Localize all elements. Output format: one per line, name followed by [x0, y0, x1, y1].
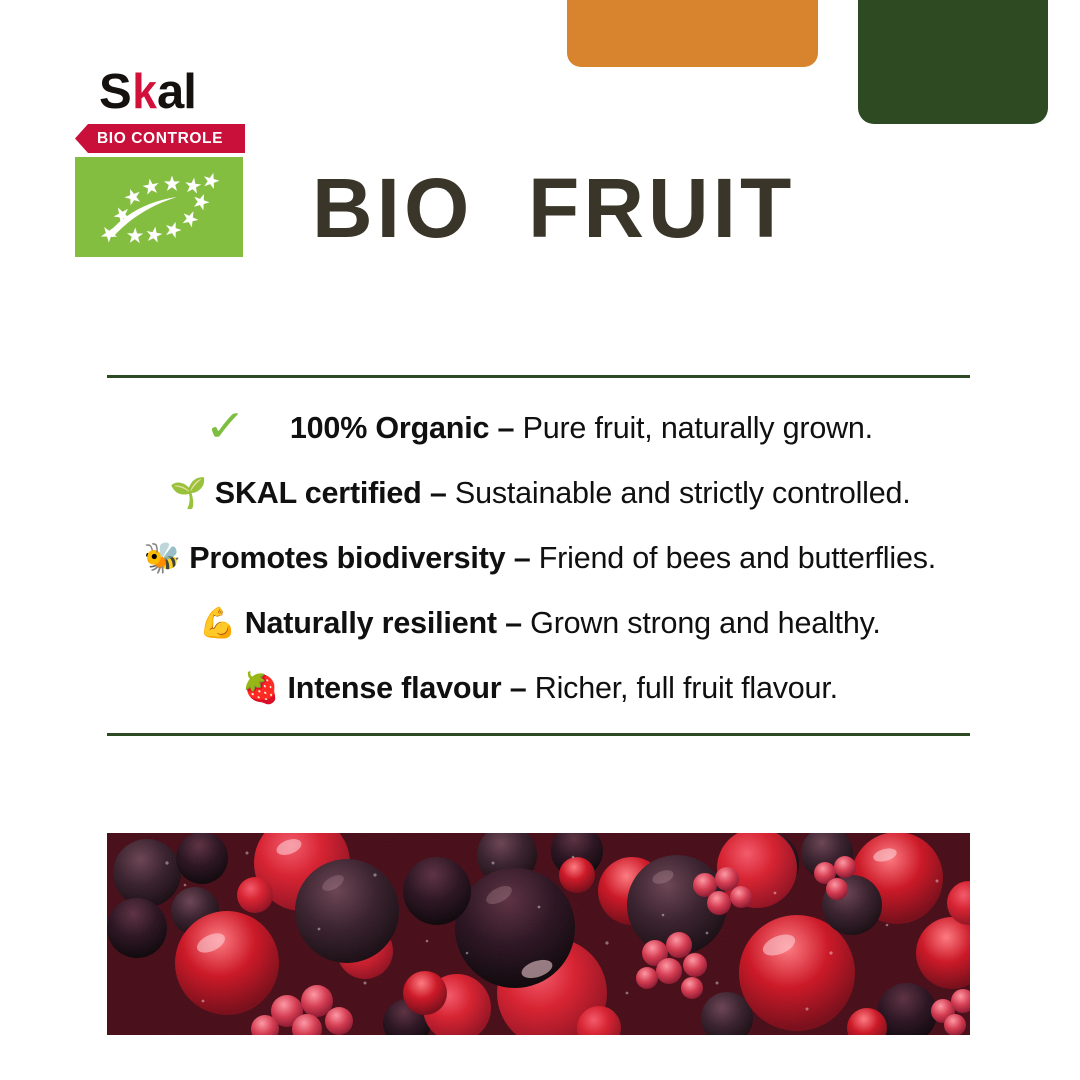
flexed-biceps-icon: 💪 [199, 609, 236, 639]
bio-controle-banner-text: BIO CONTROLE [75, 130, 223, 148]
skal-bio-controle-logo: Skal BIO CONTROLE [75, 66, 250, 257]
benefit-text: 100% Organic – Pure fruit, naturally gro… [290, 411, 873, 446]
green-accent-block [858, 0, 1048, 124]
list-item: 🐝 Promotes biodiversity – Friend of bees… [0, 526, 1080, 591]
divider-bottom [107, 733, 970, 736]
list-item: 💪 Naturally resilient – Grown strong and… [0, 591, 1080, 656]
benefit-title: SKAL certified [215, 476, 422, 510]
benefit-title: 100% Organic [290, 411, 489, 445]
benefit-text: Intense flavour – Richer, full fruit fla… [287, 671, 837, 706]
benefits-list: ✓ 100% Organic – Pure fruit, naturally g… [0, 396, 1080, 721]
eu-organic-euro-leaf-icon [75, 157, 243, 257]
skal-wordmark-s: S [99, 68, 131, 117]
skal-wordmark: Skal [75, 66, 250, 118]
benefit-description: Grown strong and healthy. [530, 606, 880, 640]
page-title: BIO FRUIT [312, 166, 795, 250]
list-item: ✓ 100% Organic – Pure fruit, naturally g… [0, 396, 1080, 461]
skal-wordmark-k-accent: k [132, 68, 156, 117]
bee-icon: 🐝 [144, 544, 181, 574]
list-item: 🍓 Intense flavour – Richer, full fruit f… [0, 656, 1080, 721]
benefit-description: Pure fruit, naturally grown. [523, 411, 873, 445]
orange-accent-block [567, 0, 818, 67]
benefit-dash: – [489, 411, 522, 445]
skal-wordmark-al: al [157, 68, 196, 117]
divider-top [107, 375, 970, 378]
bio-controle-banner: BIO CONTROLE [75, 124, 245, 153]
benefit-title: Naturally resilient [245, 606, 497, 640]
benefit-dash: – [497, 606, 530, 640]
benefit-text: SKAL certified – Sustainable and strictl… [215, 476, 911, 511]
benefit-title: Intense flavour [287, 671, 501, 705]
strawberry-icon: 🍓 [242, 674, 279, 704]
list-item: 🌱 SKAL certified – Sustainable and stric… [0, 461, 1080, 526]
poster-canvas: Skal BIO CONTROLE [0, 0, 1080, 1080]
benefit-dash: – [422, 476, 455, 510]
green-checkmark-icon: ✓ [204, 405, 246, 449]
benefit-description: Sustainable and strictly controlled. [455, 476, 911, 510]
benefit-dash: – [505, 541, 538, 575]
frozen-mixed-berries-photo [107, 833, 970, 1035]
benefit-title: Promotes biodiversity [189, 541, 505, 575]
benefit-text: Promotes biodiversity – Friend of bees a… [189, 541, 936, 576]
benefit-description: Richer, full fruit flavour. [535, 671, 838, 705]
benefit-description: Friend of bees and butterflies. [539, 541, 936, 575]
benefit-dash: – [501, 671, 534, 705]
seedling-icon: 🌱 [169, 479, 206, 509]
benefit-text: Naturally resilient – Grown strong and h… [245, 606, 881, 641]
